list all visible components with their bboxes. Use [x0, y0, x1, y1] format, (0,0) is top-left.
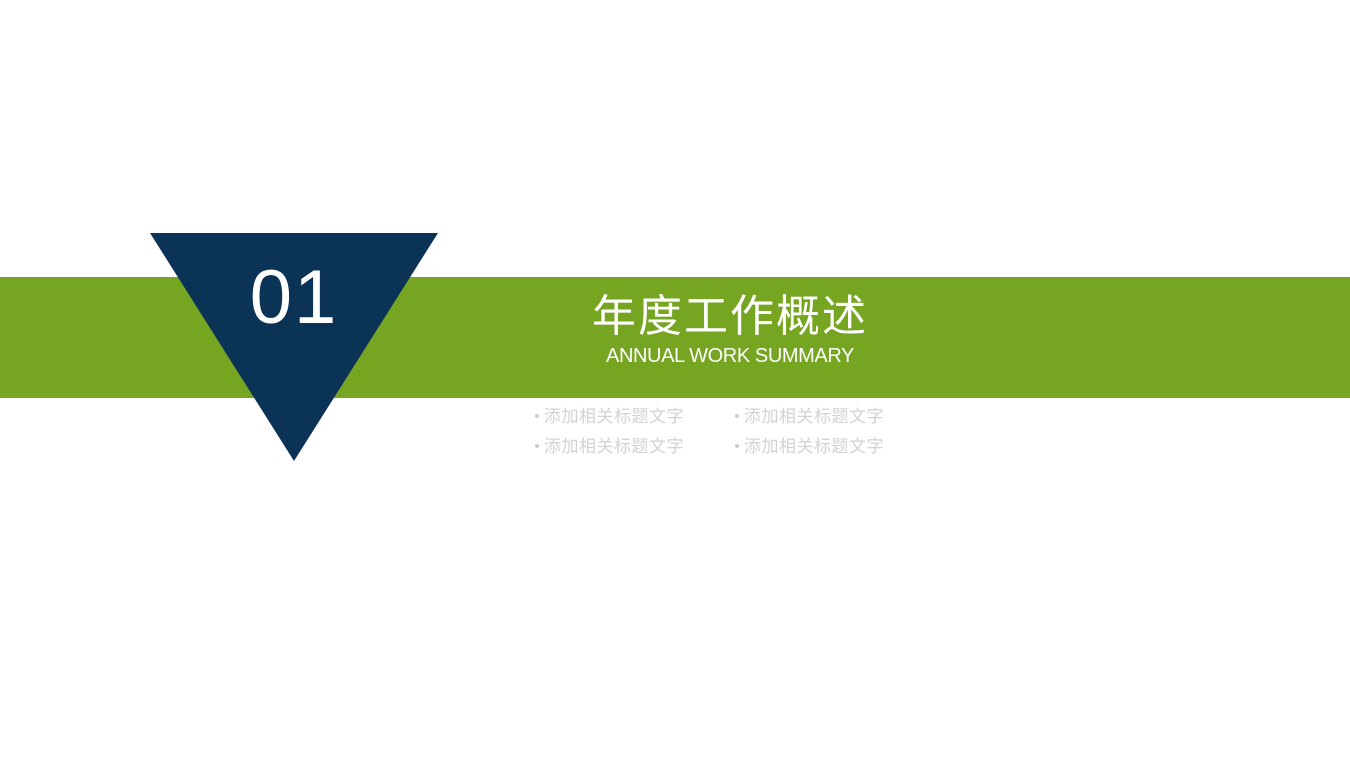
page-subtitle: ANNUAL WORK SUMMARY	[470, 344, 990, 368]
list-item: • 添加相关标题文字	[530, 405, 730, 429]
bullet-dot-icon: •	[530, 405, 544, 429]
bullet-dot-icon: •	[730, 435, 744, 459]
section-number-triangle: 01	[150, 233, 438, 461]
list-item-label: 添加相关标题文字	[744, 405, 884, 429]
bullet-dot-icon: •	[530, 435, 544, 459]
page-title: 年度工作概述	[470, 292, 990, 342]
list-item-label: 添加相关标题文字	[544, 435, 684, 459]
list-item: • 添加相关标题文字	[530, 435, 730, 459]
list-item-label: 添加相关标题文字	[544, 405, 684, 429]
list-item: • 添加相关标题文字	[730, 435, 930, 459]
title-block: 年度工作概述 ANNUAL WORK SUMMARY	[470, 292, 990, 368]
list-item-label: 添加相关标题文字	[744, 435, 884, 459]
bullet-list: • 添加相关标题文字 • 添加相关标题文字 • 添加相关标题文字 • 添加相关标…	[470, 405, 990, 459]
slide-canvas: 01 年度工作概述 ANNUAL WORK SUMMARY • 添加相关标题文字…	[0, 0, 1350, 759]
triangle-shape-icon	[150, 233, 438, 461]
bullet-dot-icon: •	[730, 405, 744, 429]
list-item: • 添加相关标题文字	[730, 405, 930, 429]
